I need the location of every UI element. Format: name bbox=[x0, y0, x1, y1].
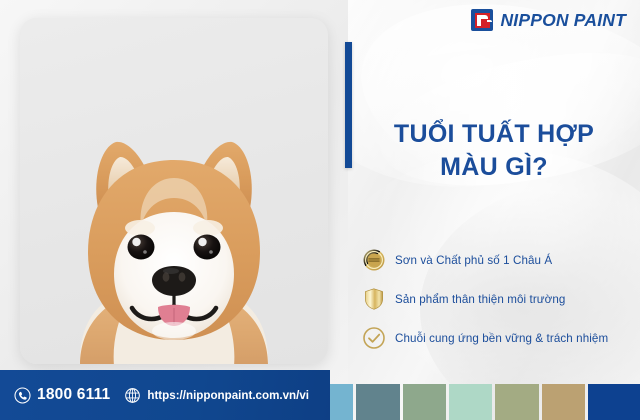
feature-item-1: Sơn và Chất phủ số 1 Châu Á bbox=[362, 248, 640, 272]
phone-number: 1800 6111 bbox=[37, 386, 110, 404]
feature-item-2: Sản phẩm thân thiện môi trường bbox=[362, 287, 640, 311]
headline-line-1: TUỔI TUẤT HỢP bbox=[394, 120, 594, 148]
contact-footer: 1800 6111 https://nipponpaint.com.vn/vi bbox=[0, 370, 330, 420]
feature-item-3: Chuỗi cung ứng bền vững & trách nhiệm bbox=[362, 326, 640, 350]
right-background-panel bbox=[348, 0, 640, 420]
brand-logo: NIPPON PAINT bbox=[471, 9, 626, 31]
website-url: https://nipponpaint.com.vn/vi bbox=[147, 389, 309, 402]
color-swatch-strip bbox=[310, 384, 640, 420]
nippon-n-logo-icon bbox=[471, 9, 493, 31]
brand-name: NIPPON PAINT bbox=[500, 10, 626, 31]
silk-swirl-decoration bbox=[348, 0, 640, 233]
feature-list: Sơn và Chất phủ số 1 Châu Á Sản phẩm thâ… bbox=[362, 248, 640, 350]
color-swatch-mint-green[interactable] bbox=[449, 384, 492, 420]
globe-icon bbox=[124, 387, 141, 404]
phone-circle-icon bbox=[14, 387, 31, 404]
feature-label: Sơn và Chất phủ số 1 Châu Á bbox=[395, 254, 552, 267]
phone-contact[interactable]: 1800 6111 bbox=[14, 386, 110, 404]
feature-label: Sản phẩm thân thiện môi trường bbox=[395, 293, 565, 306]
gold-shield-icon bbox=[362, 287, 386, 311]
color-swatch-slate-teal[interactable] bbox=[356, 384, 399, 420]
color-swatch-sage-green[interactable] bbox=[403, 384, 446, 420]
shiba-inu-dog-photo bbox=[44, 116, 304, 364]
color-swatch-deep-blue[interactable] bbox=[588, 384, 640, 420]
color-swatch-olive-green[interactable] bbox=[495, 384, 538, 420]
color-swatch-tan-gold[interactable] bbox=[542, 384, 585, 420]
feature-label: Chuỗi cung ứng bền vững & trách nhiệm bbox=[395, 332, 608, 345]
dog-photo-card bbox=[20, 18, 328, 364]
page-title: TUỔI TUẤT HỢP MÀU GÌ? bbox=[348, 118, 640, 184]
website-contact[interactable]: https://nipponpaint.com.vn/vi bbox=[124, 387, 309, 404]
gold-badge-seal-icon bbox=[362, 248, 386, 272]
gold-check-circle-icon bbox=[362, 326, 386, 350]
headline-line-2: MÀU GÌ? bbox=[348, 151, 640, 184]
nippon-paint-promo-banner: NIPPON PAINT bbox=[0, 0, 640, 420]
